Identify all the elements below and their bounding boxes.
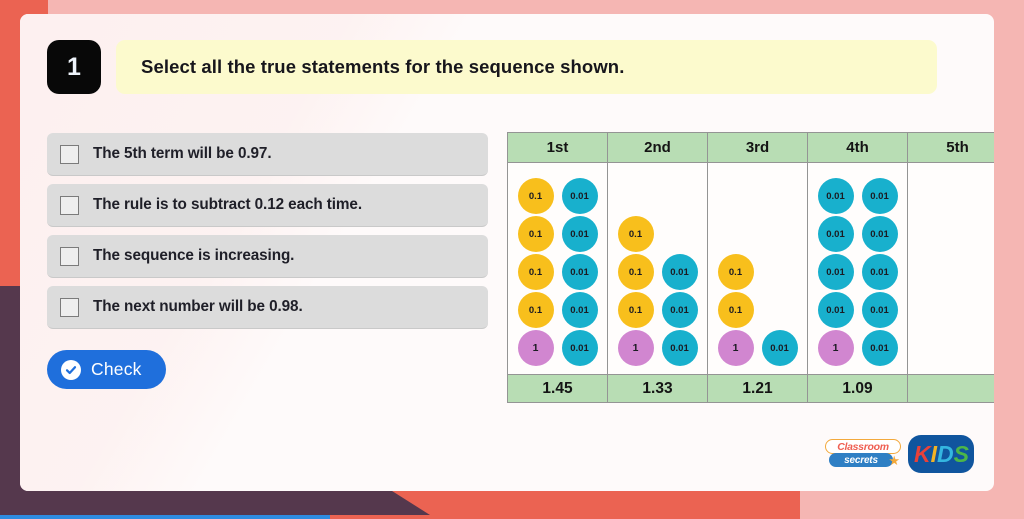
question-prompt-text: Select all the true statements for the s… xyxy=(141,56,624,78)
check-circle-icon xyxy=(61,360,81,380)
counter-hundredths: 0.01 xyxy=(562,216,598,252)
kids-letter-s: S xyxy=(954,441,968,468)
total-value-4th: 1.09 xyxy=(808,375,908,403)
counter-hundredths: 0.01 xyxy=(818,178,854,214)
counter-tenths: 0.1 xyxy=(618,292,654,328)
column-header-1st: 1st xyxy=(508,133,608,163)
counter-row: 0.10.10.10.110.010.010.010.010.01 0.10.1… xyxy=(508,163,995,375)
branding-logos: Classroom secrets ★ K I D S xyxy=(825,435,974,473)
counter-hundredths: 0.01 xyxy=(562,330,598,366)
counter-tenths: 0.1 xyxy=(718,292,754,328)
counter-column-1: 0.10.10.10.11 xyxy=(518,178,554,366)
counter-tenths: 0.1 xyxy=(518,292,554,328)
column-header-5th: 5th xyxy=(908,133,995,163)
counter-hundredths: 0.01 xyxy=(562,178,598,214)
total-value-5th xyxy=(908,375,995,403)
counter-column-2: 0.01 xyxy=(762,330,798,366)
total-value-1st: 1.45 xyxy=(508,375,608,403)
checkbox-statement-4[interactable] xyxy=(60,298,79,317)
counter-cell-1st: 0.10.10.10.110.010.010.010.010.01 xyxy=(508,163,608,375)
checkbox-statement-2[interactable] xyxy=(60,196,79,215)
statement-label-2: The rule is to subtract 0.12 each time. xyxy=(93,196,362,214)
counter-tenths: 0.1 xyxy=(718,254,754,290)
counter-stack-group-2nd: 0.10.10.110.010.010.01 xyxy=(608,163,707,366)
column-header-2nd: 2nd xyxy=(608,133,708,163)
checkbox-statement-3[interactable] xyxy=(60,247,79,266)
kids-letter-k: K xyxy=(914,441,930,468)
statement-option-2[interactable]: The rule is to subtract 0.12 each time. xyxy=(47,184,488,227)
table-header-row: 1st 2nd 3rd 4th 5th xyxy=(508,133,995,163)
counter-column-2: 0.010.010.010.010.01 xyxy=(862,178,898,366)
total-value-2nd: 1.33 xyxy=(608,375,708,403)
background-blue-strip xyxy=(0,515,330,519)
card-content: 1 Select all the true statements for the… xyxy=(20,14,994,491)
counter-tenths: 0.1 xyxy=(518,216,554,252)
statement-option-4[interactable]: The next number will be 0.98. xyxy=(47,286,488,329)
counter-hundredths: 0.01 xyxy=(862,254,898,290)
checkbox-statement-1[interactable] xyxy=(60,145,79,164)
counter-column-1: 0.010.010.010.011 xyxy=(818,178,854,366)
counter-column-2: 0.010.010.010.010.01 xyxy=(562,178,598,366)
statement-label-3: The sequence is increasing. xyxy=(93,247,294,265)
counter-hundredths: 0.01 xyxy=(662,254,698,290)
counter-cell-2nd: 0.10.10.110.010.010.01 xyxy=(608,163,708,375)
statement-option-1[interactable]: The 5th term will be 0.97. xyxy=(47,133,488,176)
statement-option-3[interactable]: The sequence is increasing. xyxy=(47,235,488,278)
counter-hundredths: 0.01 xyxy=(662,292,698,328)
counter-cell-4th: 0.010.010.010.0110.010.010.010.010.01 xyxy=(808,163,908,375)
statement-label-4: The next number will be 0.98. xyxy=(93,298,303,316)
counter-hundredths: 0.01 xyxy=(818,216,854,252)
counter-column-2: 0.010.010.01 xyxy=(662,254,698,366)
counter-column-1: 0.10.10.11 xyxy=(618,216,654,366)
counter-hundredths: 0.01 xyxy=(818,292,854,328)
counter-tenths: 0.1 xyxy=(518,254,554,290)
counter-stack-group-5th xyxy=(908,163,994,366)
table-body: 0.10.10.10.110.010.010.010.010.01 0.10.1… xyxy=(508,163,995,403)
counter-column-1: 0.10.11 xyxy=(718,254,754,366)
statement-list: The 5th term will be 0.97. The rule is t… xyxy=(47,133,488,337)
counter-ones: 1 xyxy=(718,330,754,366)
counter-hundredths: 0.01 xyxy=(862,178,898,214)
counter-hundredths: 0.01 xyxy=(662,330,698,366)
sequence-place-value-table: 1st 2nd 3rd 4th 5th 0.10.10.10.110.010.0… xyxy=(507,132,994,403)
kids-letter-d: D xyxy=(937,441,953,468)
check-button[interactable]: Check xyxy=(47,350,166,389)
question-number-badge: 1 xyxy=(47,40,101,94)
table-header-row-group: 1st 2nd 3rd 4th 5th xyxy=(508,133,995,163)
counter-hundredths: 0.01 xyxy=(562,254,598,290)
kids-logo: K I D S xyxy=(908,435,974,473)
counter-hundredths: 0.01 xyxy=(862,330,898,366)
counter-ones: 1 xyxy=(618,330,654,366)
counter-hundredths: 0.01 xyxy=(818,254,854,290)
counter-hundredths: 0.01 xyxy=(562,292,598,328)
total-value-3rd: 1.21 xyxy=(708,375,808,403)
slide-background: 1 Select all the true statements for the… xyxy=(0,0,1024,519)
counter-tenths: 0.1 xyxy=(618,216,654,252)
counter-tenths: 0.1 xyxy=(518,178,554,214)
column-header-4th: 4th xyxy=(808,133,908,163)
star-icon: ★ xyxy=(888,454,900,467)
question-prompt-banner: Select all the true statements for the s… xyxy=(116,40,937,94)
counter-hundredths: 0.01 xyxy=(762,330,798,366)
counter-hundredths: 0.01 xyxy=(862,216,898,252)
statement-label-1: The 5th term will be 0.97. xyxy=(93,145,271,163)
classroom-wordmark: Classroom xyxy=(825,439,901,454)
counter-stack-group-3rd: 0.10.110.01 xyxy=(708,163,807,366)
activity-card: 1 Select all the true statements for the… xyxy=(20,14,994,491)
kids-letter-i: I xyxy=(931,441,936,468)
counter-stack-group-1st: 0.10.10.10.110.010.010.010.010.01 xyxy=(508,163,607,366)
classroom-secrets-logo: Classroom secrets ★ xyxy=(825,438,901,470)
counter-stack-group-4th: 0.010.010.010.0110.010.010.010.010.01 xyxy=(808,163,907,366)
counter-ones: 1 xyxy=(518,330,554,366)
counter-tenths: 0.1 xyxy=(618,254,654,290)
secrets-wordmark: secrets xyxy=(829,453,893,467)
counter-cell-5th xyxy=(908,163,995,375)
column-header-3rd: 3rd xyxy=(708,133,808,163)
total-row: 1.45 1.33 1.21 1.09 xyxy=(508,375,995,403)
counter-cell-3rd: 0.10.110.01 xyxy=(708,163,808,375)
counter-ones: 1 xyxy=(818,330,854,366)
counter-hundredths: 0.01 xyxy=(862,292,898,328)
check-button-label: Check xyxy=(91,359,142,380)
